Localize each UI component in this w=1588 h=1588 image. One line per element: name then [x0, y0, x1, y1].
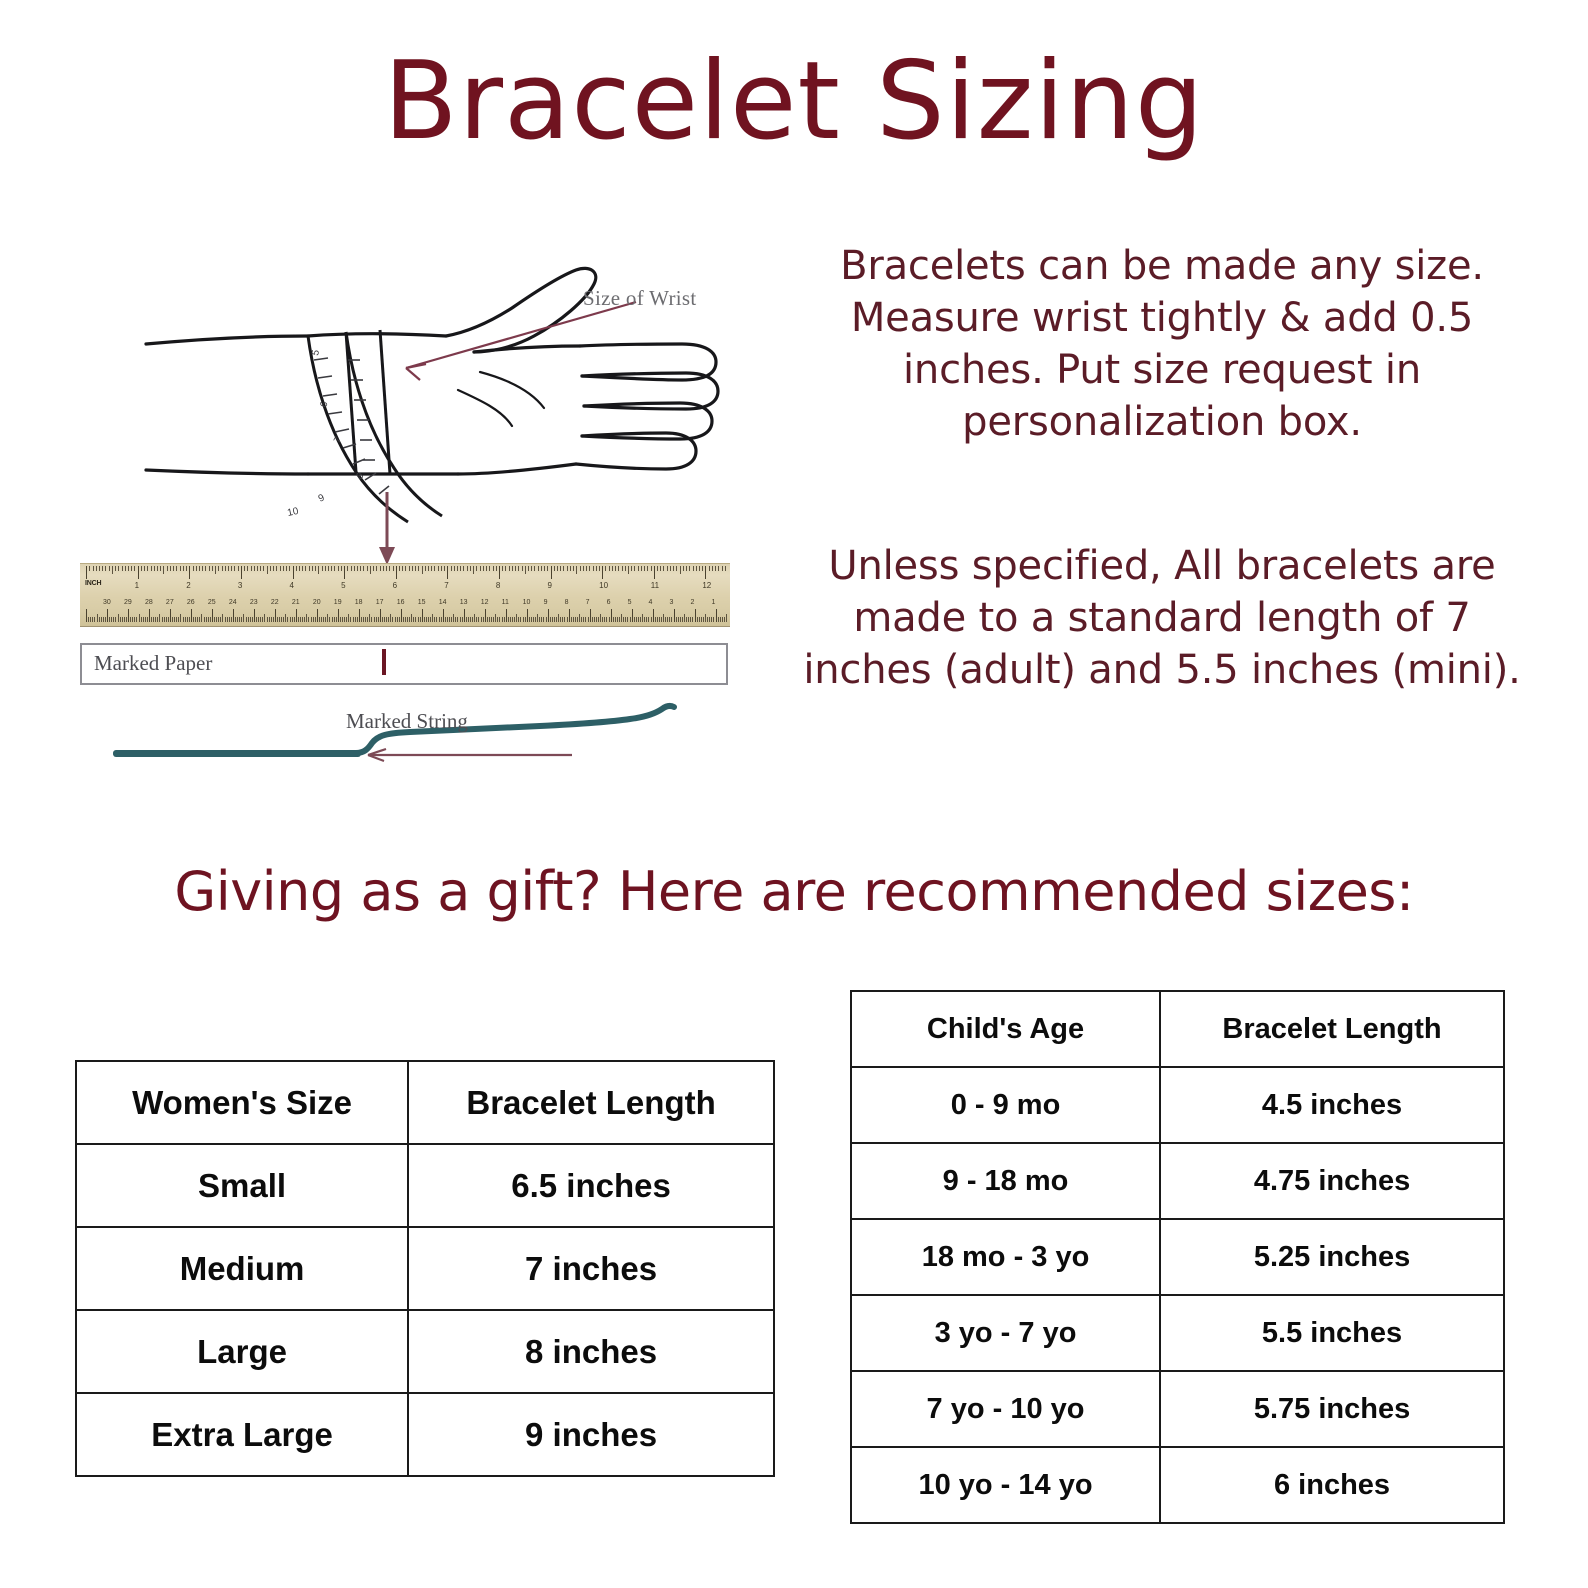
ruler-tick: [424, 617, 425, 622]
ruler-tick: [454, 566, 455, 571]
ruler-tick: [280, 566, 281, 571]
ruler-tick: [267, 566, 268, 574]
ruler-tick: [147, 566, 148, 571]
ruler-tick: [508, 617, 509, 622]
ruler-tick: [241, 566, 242, 579]
ruler-cm-number: 9: [544, 599, 548, 606]
ruler-tick: [363, 566, 364, 571]
ruler-tick: [155, 617, 156, 622]
ruler-tick: [147, 617, 148, 622]
ruler-tick: [321, 617, 322, 622]
ruler-tick: [231, 617, 232, 622]
ruler-tick: [189, 617, 190, 622]
ruler-tick: [631, 566, 632, 571]
ruler-tick: [651, 617, 652, 622]
svg-text:5: 5: [310, 348, 322, 356]
ruler-tick: [186, 566, 187, 571]
ruler-tick: [426, 617, 427, 622]
ruler-tick: [327, 614, 328, 622]
ruler-tick: [557, 566, 558, 571]
ruler-tick: [241, 617, 242, 622]
womens-size-cell: Medium: [76, 1227, 408, 1310]
ruler-tick: [680, 617, 681, 622]
ruler-tick: [509, 566, 510, 571]
ruler-tick: [556, 617, 557, 622]
ruler-tick: [682, 617, 683, 622]
ruler-tick: [505, 566, 506, 571]
ruler-tick: [233, 609, 234, 622]
ruler-tick: [588, 617, 589, 622]
ruler-tick: [541, 566, 542, 571]
ruler-tick: [627, 617, 628, 622]
ruler-tick: [342, 617, 343, 622]
ruler-tick: [289, 566, 290, 571]
ruler-tick: [713, 617, 714, 622]
ruler-tick: [293, 566, 294, 579]
ruler-cm-ticks: 3029282726252423222120191817161514131211…: [80, 608, 730, 622]
svg-text:6: 6: [318, 400, 330, 409]
ruler-tick: [286, 566, 287, 571]
ruler-inch-number: 11: [651, 581, 659, 590]
table-row: 10 yo - 14 yo 6 inches: [851, 1447, 1504, 1523]
ruler-tick: [275, 609, 276, 622]
ruler-tick: [473, 566, 474, 574]
ruler-tick: [415, 566, 416, 571]
ruler-tick: [563, 566, 564, 571]
ruler-tick: [305, 566, 306, 571]
ruler-cm-number: 1: [712, 599, 716, 606]
ruler-tick: [361, 617, 362, 622]
ruler-tick: [640, 617, 641, 622]
ruler-tick: [130, 617, 131, 622]
ruler-tick: [222, 614, 223, 622]
ruler-tick: [97, 614, 98, 622]
ruler-tick: [552, 617, 553, 622]
ruler-cm-number: 6: [607, 599, 611, 606]
ruler-tick: [472, 617, 473, 622]
ruler-tick: [606, 617, 607, 622]
ruler-tick: [120, 617, 121, 622]
ruler-tick: [193, 566, 194, 571]
ruler-tick: [89, 566, 90, 571]
ruler-tick: [489, 617, 490, 622]
ruler-tick: [634, 617, 635, 622]
ruler-tick: [510, 617, 511, 622]
ruler-tick: [273, 617, 274, 622]
ruler-tick: [445, 617, 446, 622]
ruler-cm-number: 2: [691, 599, 695, 606]
ruler-tick: [317, 609, 318, 622]
ruler-tick: [483, 617, 484, 622]
table-row: Medium 7 inches: [76, 1227, 774, 1310]
ruler-tick: [497, 617, 498, 622]
ruler-tick: [344, 617, 345, 622]
ruler-tick: [638, 617, 639, 622]
ruler-tick: [583, 566, 584, 571]
ruler-tick: [206, 617, 207, 622]
ruler-tick: [392, 617, 393, 622]
ruler-tick: [602, 566, 603, 579]
ruler-tick: [363, 617, 364, 622]
ruler-tick: [535, 617, 536, 622]
ruler-tick: [357, 617, 358, 622]
ruler-tick: [239, 617, 240, 622]
svg-text:10: 10: [286, 506, 300, 519]
ruler-tick: [413, 617, 414, 622]
ruler-tick: [399, 566, 400, 571]
gift-recommendation-heading: Giving as a gift? Here are recommended s…: [0, 862, 1588, 921]
ruler-tick: [480, 566, 481, 571]
ruler-tick: [312, 566, 313, 571]
ruler-cm-number: 28: [145, 599, 153, 606]
ruler-tick: [646, 617, 647, 622]
ruler-tick: [170, 566, 171, 571]
ruler-tick: [382, 617, 383, 622]
womens-length-cell: 7 inches: [408, 1227, 774, 1310]
childrens-size-table: Child's Age Bracelet Length 0 - 9 mo 4.5…: [850, 990, 1505, 1524]
ruler-tick: [371, 617, 372, 622]
ruler-tick: [101, 617, 102, 622]
ruler-tick: [585, 617, 586, 622]
ruler-tick: [351, 566, 352, 571]
ruler-inch-number: 8: [496, 581, 500, 590]
ruler-tick: [692, 617, 693, 622]
ruler-tick: [441, 617, 442, 622]
ruler-tick: [126, 617, 127, 622]
ruler-inch-number: 12: [702, 581, 711, 590]
ruler-cm-number: 8: [565, 599, 569, 606]
ruler-tick: [113, 617, 114, 622]
ruler-tick: [670, 566, 671, 571]
ruler-tick: [562, 617, 563, 622]
ruler-tick: [613, 617, 614, 622]
ruler-tick: [602, 617, 603, 622]
ruler-tick: [468, 617, 469, 622]
ruler-tick: [254, 566, 255, 571]
ruler-tick: [315, 617, 316, 622]
table-row: 18 mo - 3 yo 5.25 inches: [851, 1219, 1504, 1295]
table-row: Extra Large 9 inches: [76, 1393, 774, 1476]
ruler-tick: [411, 614, 412, 622]
childs-age-cell: 18 mo - 3 yo: [851, 1219, 1160, 1295]
paper-mark-tick: [382, 649, 386, 675]
ruler-tick: [209, 566, 210, 571]
ruler-inch-number: 7: [444, 581, 448, 590]
ruler-tick: [579, 614, 580, 622]
ruler-tick: [547, 566, 548, 571]
ruler-tick: [386, 617, 387, 622]
ruler-tick: [118, 614, 119, 622]
size-of-wrist-label: Size of Wrist: [583, 286, 696, 311]
wrist-measuring-illustration: 5 6 7 8 9 10: [60, 240, 760, 770]
ruler-tick: [655, 617, 656, 622]
ruler-tick: [298, 617, 299, 622]
ruler-tick: [485, 609, 486, 622]
ruler-tick: [151, 617, 152, 622]
ruler-tick: [153, 617, 154, 622]
ruler-tick: [612, 566, 613, 571]
ruler-tick: [596, 566, 597, 571]
ruler-tick: [252, 617, 253, 622]
ruler-tick: [405, 566, 406, 571]
ruler-tick: [277, 617, 278, 622]
ruler-tick: [99, 617, 100, 622]
ruler-tick: [196, 566, 197, 571]
womens-length-cell: 8 inches: [408, 1310, 774, 1393]
ruler-tick: [348, 614, 349, 622]
childs-length-cell: 6 inches: [1160, 1447, 1504, 1523]
ruler-tick: [180, 566, 181, 571]
ruler-tick: [696, 566, 697, 571]
ruler-tick: [619, 617, 620, 622]
ruler-tick: [634, 566, 635, 571]
ruler-tick: [309, 566, 310, 571]
ruler-tick: [318, 566, 319, 574]
ruler-tick: [167, 566, 168, 571]
ruler-cm-number: 10: [523, 599, 531, 606]
ruler-tick: [718, 617, 719, 622]
ruler-tick: [292, 617, 293, 622]
ruler-inch-ticks: 123456789101112: [80, 566, 730, 580]
ruler-tick: [636, 617, 637, 622]
ruler-tick: [338, 609, 339, 622]
ruler-tick: [630, 617, 631, 622]
ruler-tick: [688, 617, 689, 622]
ruler-tick: [269, 617, 270, 622]
ruler-tick: [102, 566, 103, 571]
ruler-tick: [260, 566, 261, 571]
ruler-tick: [279, 617, 280, 622]
ruler-tick: [144, 566, 145, 571]
ruler-tick: [464, 609, 465, 622]
childs-age-cell: 9 - 18 mo: [851, 1143, 1160, 1219]
ruler-tick: [105, 566, 106, 571]
ruler-tick: [397, 617, 398, 622]
womens-size-cell: Large: [76, 1310, 408, 1393]
ruler-tick: [418, 566, 419, 571]
ruler-cm-number: 29: [124, 599, 132, 606]
ruler-tick: [615, 617, 616, 622]
ruler-tick: [218, 566, 219, 571]
ruler-tick: [388, 617, 389, 622]
ruler-tick: [302, 617, 303, 622]
ruler-tick: [304, 617, 305, 622]
ruler-cm-number: 30: [103, 599, 111, 606]
ruler-tick: [436, 617, 437, 622]
ruler-tick: [683, 566, 684, 571]
ruler-tick: [617, 617, 618, 622]
ruler-tick: [405, 617, 406, 622]
ruler-tick: [686, 566, 687, 571]
ruler-tick: [139, 614, 140, 622]
ruler-tick: [395, 617, 396, 622]
ruler-tick: [201, 614, 202, 622]
ruler-tick: [350, 617, 351, 622]
ruler-tick: [380, 566, 381, 571]
ruler-tick: [164, 617, 165, 622]
ruler-tick: [515, 566, 516, 571]
ruler-tick: [425, 566, 426, 571]
ruler-tick: [374, 617, 375, 622]
ruler-tick: [365, 617, 366, 622]
ruler-tick: [90, 617, 91, 622]
ruler-tick: [180, 614, 181, 622]
ruler-tick: [528, 566, 529, 571]
ruler-tick: [537, 614, 538, 622]
ruler-tick: [558, 614, 559, 622]
ruler-tick: [383, 566, 384, 571]
ruler-tick: [600, 614, 601, 622]
ruler-tick: [667, 617, 668, 622]
ruler-tick: [367, 566, 368, 571]
ruler-tick: [567, 617, 568, 622]
ruler-tick: [109, 566, 110, 571]
ruler-tick: [541, 617, 542, 622]
childs-age-cell: 10 yo - 14 yo: [851, 1447, 1160, 1523]
ruler-tick: [470, 566, 471, 571]
ruler-tick: [218, 617, 219, 622]
ruler-tick: [389, 566, 390, 571]
ruler-tick: [296, 609, 297, 622]
ruler-tick: [463, 566, 464, 571]
ruler-tick: [380, 609, 381, 622]
ruler-tick: [422, 609, 423, 622]
table-row: Small 6.5 inches: [76, 1144, 774, 1227]
ruler-inch-number: 2: [186, 581, 190, 590]
ruler-cm-number: 21: [292, 599, 300, 606]
ruler-tick: [518, 617, 519, 622]
ruler-tick: [88, 617, 89, 622]
down-arrow-to-ruler-icon: [372, 490, 402, 568]
ruler-tick: [403, 617, 404, 622]
ruler-tick: [570, 566, 571, 571]
ruler-cm-number: 3: [670, 599, 674, 606]
ruler-tick: [353, 617, 354, 622]
ruler-tick: [478, 617, 479, 622]
ruler-tick: [103, 617, 104, 622]
ruler-tick: [160, 566, 161, 571]
ruler-tick: [543, 617, 544, 622]
ruler-tick: [128, 609, 129, 622]
ruler-tick: [195, 617, 196, 622]
ruler-tick: [96, 566, 97, 571]
ruler-tick: [360, 566, 361, 571]
ruler-tick: [432, 614, 433, 622]
ruler-tick: [434, 566, 435, 571]
ruler-tick: [212, 609, 213, 622]
ruler-tick: [593, 566, 594, 571]
ruler-tick: [661, 617, 662, 622]
ruler-tick: [718, 566, 719, 571]
ruler-tick: [222, 566, 223, 571]
ruler-cm-number: 22: [271, 599, 279, 606]
childs-age-header: Child's Age: [851, 991, 1160, 1067]
ruler-tick: [493, 617, 494, 622]
ruler-inch-number: 4: [289, 581, 293, 590]
ruler-tick: [653, 609, 654, 622]
childs-length-cell: 5.75 inches: [1160, 1371, 1504, 1447]
ruler-tick: [270, 566, 271, 571]
ruler-tick: [225, 617, 226, 622]
ruler-tick: [422, 566, 423, 574]
ruler-tick: [609, 617, 610, 622]
ruler-tick: [462, 617, 463, 622]
ruler-tick: [258, 617, 259, 622]
ruler-tick: [205, 566, 206, 571]
ruler-tick: [134, 617, 135, 622]
ruler-tick: [686, 617, 687, 622]
ruler-tick: [491, 617, 492, 622]
ruler-tick: [273, 566, 274, 571]
ruler-tick: [237, 617, 238, 622]
ruler-tick: [143, 617, 144, 622]
ruler-tick: [267, 617, 268, 622]
ruler-tick: [402, 566, 403, 571]
ruler-cm-number: 17: [376, 599, 384, 606]
table-header-row: Child's Age Bracelet Length: [851, 991, 1504, 1067]
ruler-tick: [709, 566, 710, 571]
ruler-tick: [623, 617, 624, 622]
ruler-tick: [157, 617, 158, 622]
table-row: 7 yo - 10 yo 5.75 inches: [851, 1371, 1504, 1447]
ruler-tick: [340, 617, 341, 622]
ruler-tick: [250, 617, 251, 622]
ruler-tick: [334, 566, 335, 571]
ruler-tick: [193, 617, 194, 622]
ruler-inch-number: 1: [135, 581, 139, 590]
ruler-tick: [711, 617, 712, 622]
ruler-inch-number: 3: [238, 581, 242, 590]
ruler-tick: [476, 566, 477, 571]
ruler-tick: [407, 617, 408, 622]
ruler-tick: [334, 617, 335, 622]
ruler-tick: [499, 617, 500, 622]
ruler-tick: [428, 566, 429, 571]
ruler-tick: [154, 566, 155, 571]
ruler-tick: [124, 617, 125, 622]
ruler-cm-number: 14: [439, 599, 447, 606]
ruler-tick: [329, 617, 330, 622]
ruler-tick: [99, 566, 100, 571]
childs-length-cell: 4.5 inches: [1160, 1067, 1504, 1143]
ruler-tick: [434, 617, 435, 622]
ruler-tick: [199, 566, 200, 571]
ruler-tick: [287, 617, 288, 622]
ruler-tick: [699, 617, 700, 622]
ruler-tick: [125, 566, 126, 571]
ruler-tick: [534, 566, 535, 571]
womens-length-cell: 6.5 inches: [408, 1144, 774, 1227]
ruler-tick: [644, 617, 645, 622]
ruler-tick: [564, 617, 565, 622]
ruler-tick: [93, 566, 94, 571]
ruler-cm-number: 18: [355, 599, 363, 606]
ruler-tick: [260, 617, 261, 622]
ruler-tick: [159, 614, 160, 622]
standard-length-paragraph: Unless specified, All bracelets are made…: [792, 540, 1532, 696]
ruler-tick: [522, 566, 523, 571]
womens-length-header: Bracelet Length: [408, 1061, 774, 1144]
ruler-tick: [178, 617, 179, 622]
ruler-tick: [663, 614, 664, 622]
ruler-tick: [590, 609, 591, 622]
ruler-tick: [671, 617, 672, 622]
marked-paper-label: Marked Paper: [94, 651, 212, 676]
ruler-tick: [228, 566, 229, 571]
womens-size-table: Women's Size Bracelet Length Small 6.5 i…: [75, 1060, 775, 1477]
table-row: Large 8 inches: [76, 1310, 774, 1393]
ruler-tick: [373, 566, 374, 571]
